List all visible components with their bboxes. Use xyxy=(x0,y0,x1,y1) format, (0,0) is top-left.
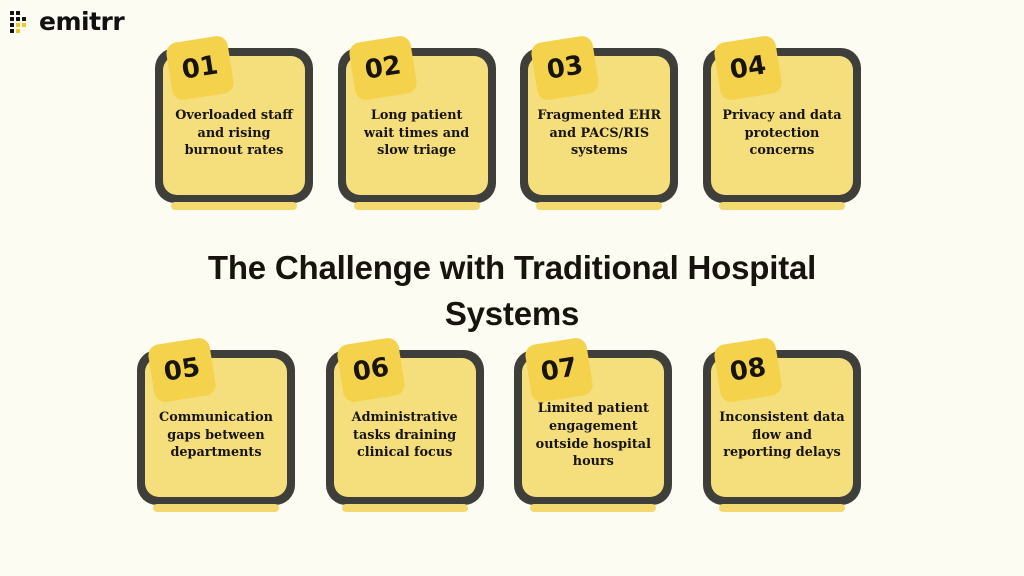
card-bottom-bar xyxy=(342,504,468,512)
challenge-card[interactable]: Fragmented EHR and PACS/RIS systems 03 xyxy=(520,48,678,203)
card-number-badge: 05 xyxy=(147,337,217,404)
challenge-card[interactable]: Communication gaps between departments 0… xyxy=(137,350,295,505)
challenge-card[interactable]: Privacy and data protection concerns 04 xyxy=(703,48,861,203)
dot-matrix-icon xyxy=(10,11,32,33)
card-number-badge: 01 xyxy=(165,35,235,102)
card-text: Privacy and data protection concerns xyxy=(719,107,845,160)
card-text: Communication gaps between departments xyxy=(153,409,279,462)
card-number-badge: 02 xyxy=(348,35,418,102)
challenge-card[interactable]: Inconsistent data flow and reporting del… xyxy=(703,350,861,505)
card-number: 01 xyxy=(180,52,220,83)
card-number-badge: 06 xyxy=(336,337,406,404)
card-bottom-bar xyxy=(719,504,845,512)
brand-name: emitrr xyxy=(39,9,124,34)
card-number: 07 xyxy=(539,354,579,385)
challenge-card[interactable]: Overloaded staff and rising burnout rate… xyxy=(155,48,313,203)
challenge-card[interactable]: Long patient wait times and slow triage … xyxy=(338,48,496,203)
card-text: Administrative tasks draining clinical f… xyxy=(342,409,468,462)
card-bottom-bar xyxy=(719,202,845,210)
card-number: 03 xyxy=(545,52,585,83)
card-number: 05 xyxy=(162,354,202,385)
card-number: 06 xyxy=(351,354,391,385)
card-bottom-bar xyxy=(153,504,279,512)
card-bottom-bar xyxy=(354,202,480,210)
card-number-badge: 04 xyxy=(713,35,783,102)
brand-logo[interactable]: emitrr xyxy=(10,9,124,34)
card-text: Limited patient engagement outside hospi… xyxy=(530,400,656,471)
card-number: 08 xyxy=(728,354,768,385)
card-row-bottom: Communication gaps between departments 0… xyxy=(137,350,861,505)
card-bottom-bar xyxy=(536,202,662,210)
card-number-badge: 07 xyxy=(524,337,594,404)
challenge-card[interactable]: Administrative tasks draining clinical f… xyxy=(326,350,484,505)
card-number-badge: 03 xyxy=(530,35,600,102)
card-text: Long patient wait times and slow triage xyxy=(354,107,480,160)
card-bottom-bar xyxy=(171,202,297,210)
card-number: 02 xyxy=(363,52,403,83)
page-title: The Challenge with Traditional Hospital … xyxy=(0,245,1024,336)
card-number-badge: 08 xyxy=(713,337,783,404)
card-number: 04 xyxy=(728,52,768,83)
card-text: Inconsistent data flow and reporting del… xyxy=(719,409,845,462)
card-bottom-bar xyxy=(530,504,656,512)
card-text: Fragmented EHR and PACS/RIS systems xyxy=(536,107,662,160)
card-row-top: Overloaded staff and rising burnout rate… xyxy=(155,48,861,203)
challenge-card[interactable]: Limited patient engagement outside hospi… xyxy=(514,350,672,505)
card-text: Overloaded staff and rising burnout rate… xyxy=(171,107,297,160)
